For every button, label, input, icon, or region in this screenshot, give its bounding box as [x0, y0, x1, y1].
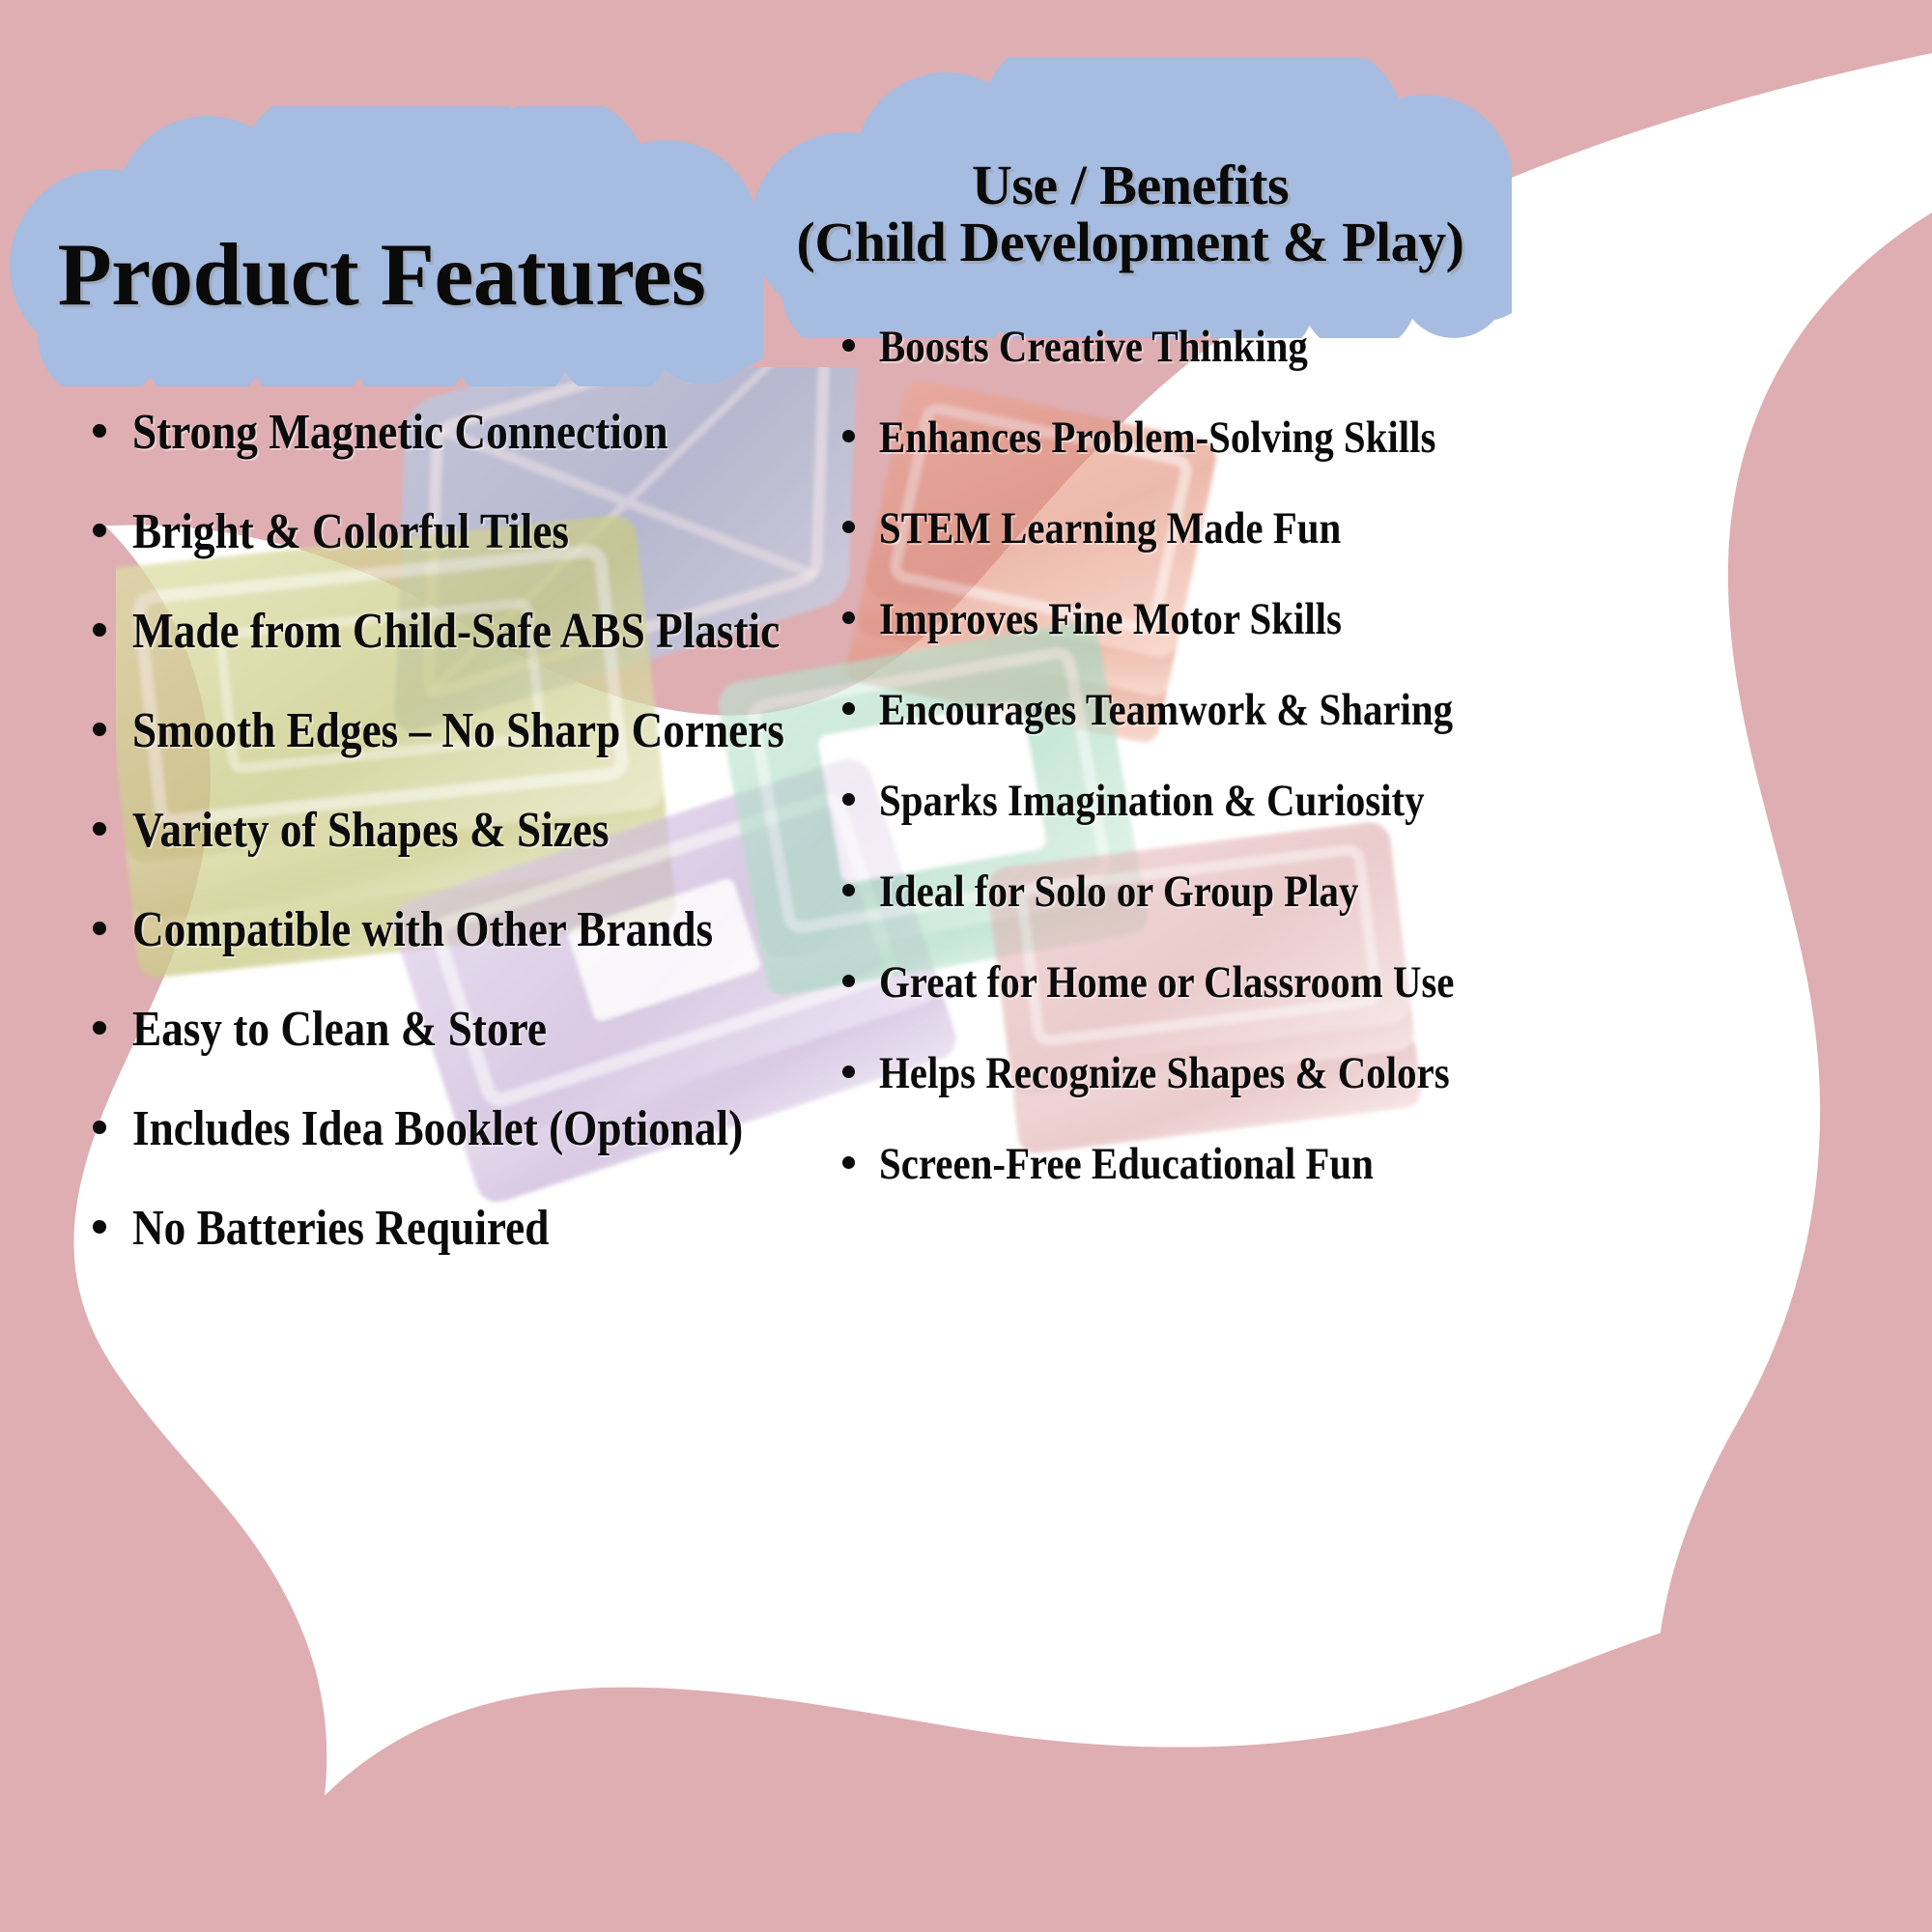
list-item: Variety of Shapes & Sizes — [93, 802, 856, 859]
list-item: Made from Child-Safe ABS Plastic — [93, 603, 856, 660]
list-item: STEM Learning Made Fun — [842, 502, 1519, 554]
list-item: No Batteries Required — [93, 1200, 856, 1257]
list-item-label: Encourages Teamwork & Sharing — [879, 684, 1453, 736]
list-item-label: Improves Fine Motor Skills — [879, 593, 1435, 645]
bullet-dot-icon — [842, 1065, 855, 1078]
bullet-dot-icon — [93, 1121, 106, 1134]
list-item-label: Easy to Clean & Store — [132, 1001, 762, 1058]
features-list: Strong Magnetic Connection Bright & Colo… — [93, 404, 856, 1299]
bullet-dot-icon — [842, 702, 855, 715]
bullet-dot-icon — [93, 922, 106, 935]
bullet-dot-icon — [842, 975, 855, 987]
list-item-label: No Batteries Required — [132, 1200, 762, 1257]
list-item: Smooth Edges – No Sharp Corners — [93, 702, 856, 759]
list-item-label: Sparks Imagination & Curiosity — [879, 775, 1435, 827]
list-item: Compatible with Other Brands — [93, 901, 856, 958]
list-item: Helps Recognize Shapes & Colors — [842, 1047, 1519, 1099]
benefits-list: Boosts Creative Thinking Enhances Proble… — [842, 321, 1519, 1229]
poster-canvas: Product Features Use — [0, 0, 1932, 1932]
list-item-label: Enhances Problem-Solving Skills — [879, 412, 1435, 464]
list-item: Boosts Creative Thinking — [842, 321, 1519, 373]
list-item-label: Variety of Shapes & Sizes — [132, 802, 762, 859]
list-item-label: STEM Learning Made Fun — [879, 502, 1435, 554]
bullet-dot-icon — [842, 793, 855, 806]
list-item: Encourages Teamwork & Sharing — [842, 684, 1519, 736]
list-item: Includes Idea Booklet (Optional) — [93, 1100, 856, 1157]
list-item: Bright & Colorful Tiles — [93, 503, 856, 560]
list-item-label: Great for Home or Classroom Use — [879, 956, 1454, 1009]
list-item: Enhances Problem-Solving Skills — [842, 412, 1519, 464]
bullet-dot-icon — [93, 424, 106, 438]
list-item-label: Strong Magnetic Connection — [132, 404, 762, 461]
benefits-header-cloud: Use / Benefits (Child Development & Play… — [749, 58, 1512, 338]
bullet-dot-icon — [93, 623, 106, 637]
list-item: Great for Home or Classroom Use — [842, 956, 1519, 1009]
benefits-title-line1: Use / Benefits — [972, 156, 1289, 213]
list-item: Improves Fine Motor Skills — [842, 593, 1519, 645]
list-item-label: Ideal for Solo or Group Play — [879, 866, 1435, 918]
bullet-dot-icon — [842, 611, 855, 624]
benefits-title-line2: (Child Development & Play) — [797, 213, 1464, 270]
list-item: Screen-Free Educational Fun — [842, 1138, 1519, 1190]
bullet-dot-icon — [93, 1021, 106, 1035]
list-item-label: Includes Idea Booklet (Optional) — [132, 1100, 762, 1157]
features-header-cloud: Product Features — [0, 106, 763, 386]
bullet-dot-icon — [842, 339, 855, 352]
list-item-label: Helps Recognize Shapes & Colors — [879, 1047, 1450, 1099]
list-item-label: Bright & Colorful Tiles — [132, 503, 762, 560]
bullet-dot-icon — [842, 884, 855, 896]
bullet-dot-icon — [842, 521, 855, 533]
list-item-label: Screen-Free Educational Fun — [879, 1138, 1435, 1190]
bullet-dot-icon — [842, 430, 855, 442]
list-item: Easy to Clean & Store — [93, 1001, 856, 1058]
bullet-dot-icon — [93, 822, 106, 836]
list-item: Strong Magnetic Connection — [93, 404, 856, 461]
features-title: Product Features — [0, 106, 763, 415]
list-item-label: Boosts Creative Thinking — [879, 321, 1435, 373]
list-item-label: Compatible with Other Brands — [132, 901, 762, 958]
list-item-label: Made from Child-Safe ABS Plastic — [132, 603, 780, 660]
benefits-title: Use / Benefits (Child Development & Play… — [749, 58, 1512, 354]
list-item-label: Smooth Edges – No Sharp Corners — [132, 702, 784, 759]
bullet-dot-icon — [842, 1156, 855, 1169]
bullet-dot-icon — [93, 524, 106, 537]
list-item: Ideal for Solo or Group Play — [842, 866, 1519, 918]
bullet-dot-icon — [93, 723, 106, 736]
list-item: Sparks Imagination & Curiosity — [842, 775, 1519, 827]
bullet-dot-icon — [93, 1220, 106, 1234]
